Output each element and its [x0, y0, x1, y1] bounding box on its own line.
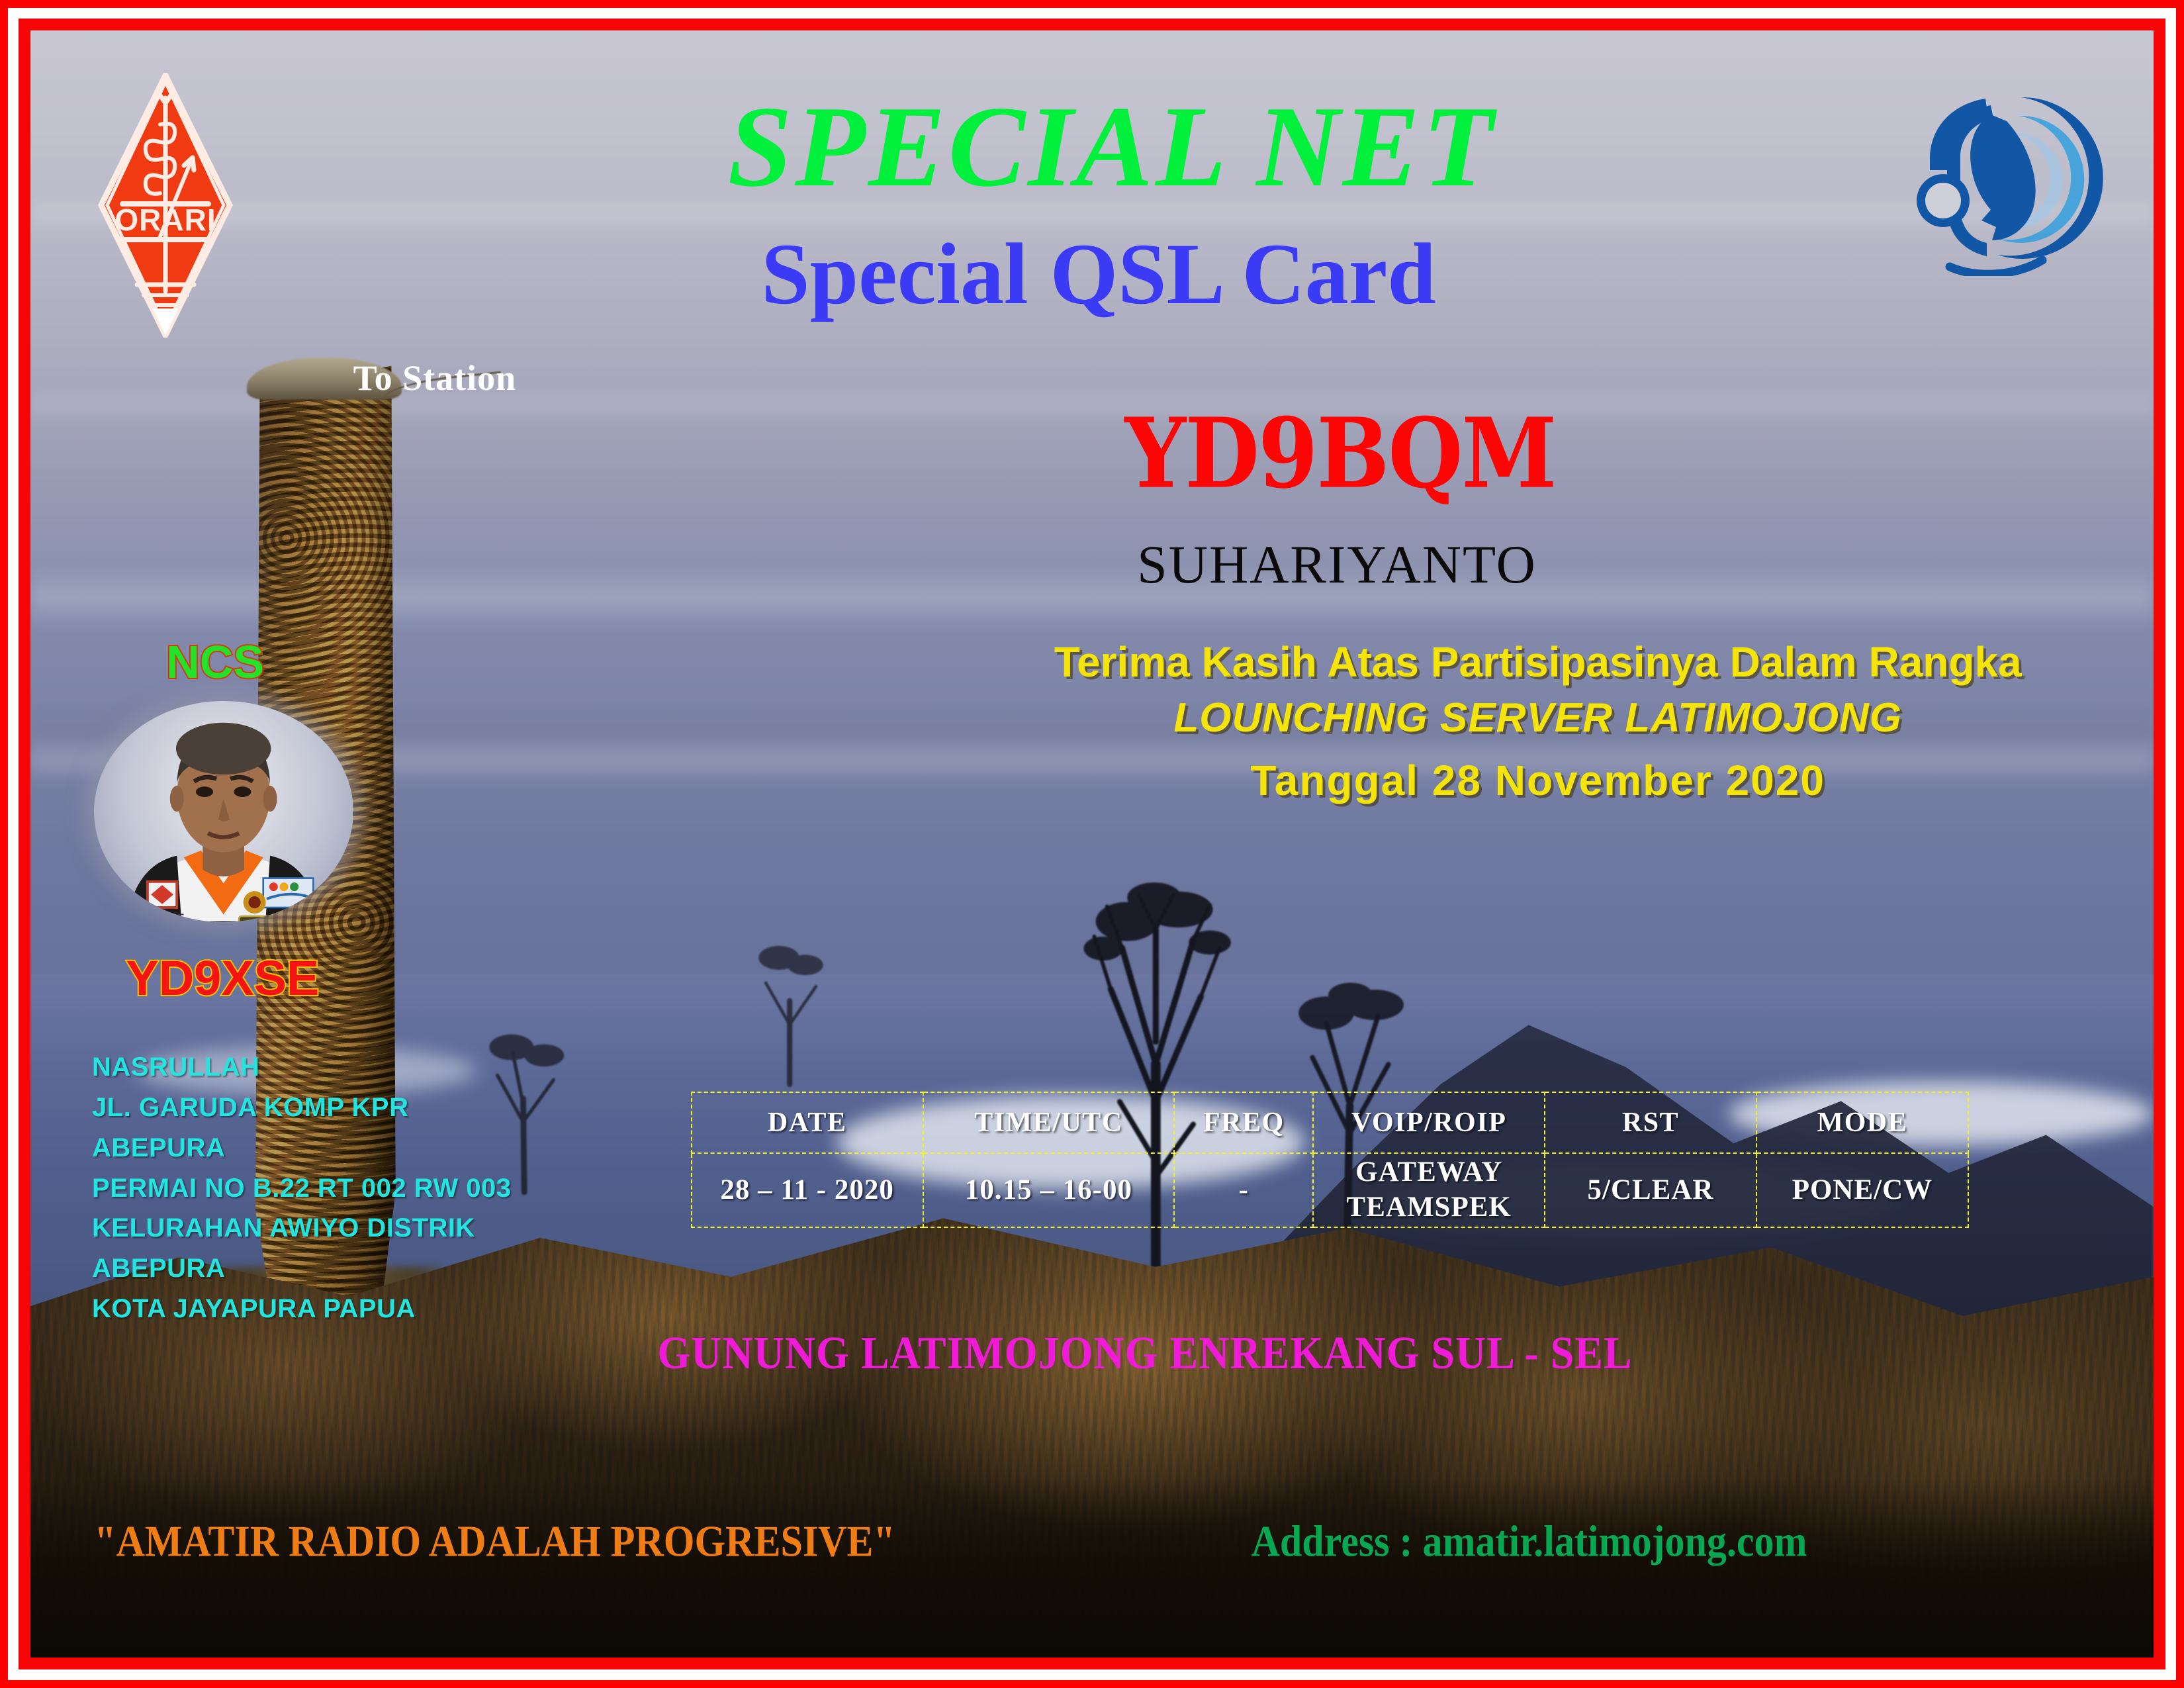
address-line: JL. GARUDA KOMP KPR	[92, 1088, 511, 1128]
column-header-freq: FREQ	[1174, 1092, 1313, 1153]
table-row: 28 – 11 - 2020 10.15 – 16-00 - GATEWAY T…	[692, 1153, 1968, 1227]
column-header-time: TIME/UTC	[923, 1092, 1175, 1153]
cell-time: 10.15 – 16-00	[923, 1153, 1175, 1227]
table-header-row: DATE TIME/UTC FREQ VOIP/ROIP RST MODE	[692, 1092, 1968, 1153]
page-title: SPECIAL NET	[30, 89, 2154, 205]
qsl-card-white-gap: ORARI	[8, 8, 2176, 1680]
operator-name: SUHARIYANTO	[30, 534, 2154, 596]
thanks-line-1: Terima Kasih Atas Partisipasinya Dalam R…	[965, 635, 2111, 688]
qsl-card-outer-frame: ORARI	[0, 0, 2184, 1688]
address-line: NASRULLAH	[92, 1047, 511, 1088]
column-header-mode: MODE	[1756, 1092, 1968, 1153]
svg-text:YD9XSE: YD9XSE	[140, 912, 185, 922]
location-line: GUNUNG LATIMOJONG ENREKANG SUL - SEL	[30, 1326, 2154, 1380]
cell-freq: -	[1174, 1153, 1313, 1227]
ncs-portrait-photo: YD9XSE	[94, 701, 353, 922]
column-header-rst: RST	[1545, 1092, 1756, 1153]
cell-mode: PONE/CW	[1756, 1153, 1968, 1227]
website-address: Address : amatir.latimojong.com	[1251, 1516, 1807, 1567]
qsl-card-photo-canvas: ORARI	[30, 30, 2154, 1658]
address-line: KOTA JAYAPURA PAPUA	[92, 1289, 511, 1329]
cell-date: 28 – 11 - 2020	[692, 1153, 923, 1227]
qso-log-table: DATE TIME/UTC FREQ VOIP/ROIP RST MODE 28…	[691, 1092, 1969, 1228]
thanks-block: Terima Kasih Atas Partisipasinya Dalam R…	[965, 635, 2111, 814]
thanks-line-2: LOUNCHING SERVER LATIMOJONG	[965, 688, 2111, 748]
qsl-card-inner-red-frame: ORARI	[19, 19, 2165, 1669]
portrait-image: YD9XSE	[94, 701, 353, 922]
address-line: ABEPURA	[92, 1128, 511, 1168]
cell-voip-line2: TEAMSPEK	[1314, 1190, 1544, 1225]
address-block: NASRULLAH JL. GARUDA KOMP KPR ABEPURA PE…	[92, 1047, 511, 1329]
address-line: PERMAI NO B.22 RT 002 RW 003	[92, 1168, 511, 1209]
page-subtitle: Special QSL Card	[30, 230, 2154, 318]
cell-voip-line1: GATEWAY	[1314, 1155, 1544, 1190]
motto-text: "AMATIR RADIO ADALAH PROGRESIVE"	[94, 1516, 895, 1567]
cell-voip: GATEWAY TEAMSPEK	[1313, 1153, 1545, 1227]
to-station-label: To Station	[353, 357, 517, 399]
column-header-voip: VOIP/ROIP	[1313, 1092, 1545, 1153]
thanks-line-3: Tanggal 28 November 2020	[965, 748, 2111, 814]
overlay-content-layer: ORARI	[30, 30, 2154, 1658]
callsign: YD9BQM	[30, 397, 2154, 510]
ncs-label: NCS	[166, 635, 264, 688]
address-line: KELURAHAN AWIYO DISTRIK	[92, 1208, 511, 1248]
ncs-callsign: YD9XSE	[126, 950, 319, 1006]
cell-rst: 5/CLEAR	[1545, 1153, 1756, 1227]
column-header-date: DATE	[692, 1092, 923, 1153]
address-line: ABEPURA	[92, 1248, 511, 1289]
